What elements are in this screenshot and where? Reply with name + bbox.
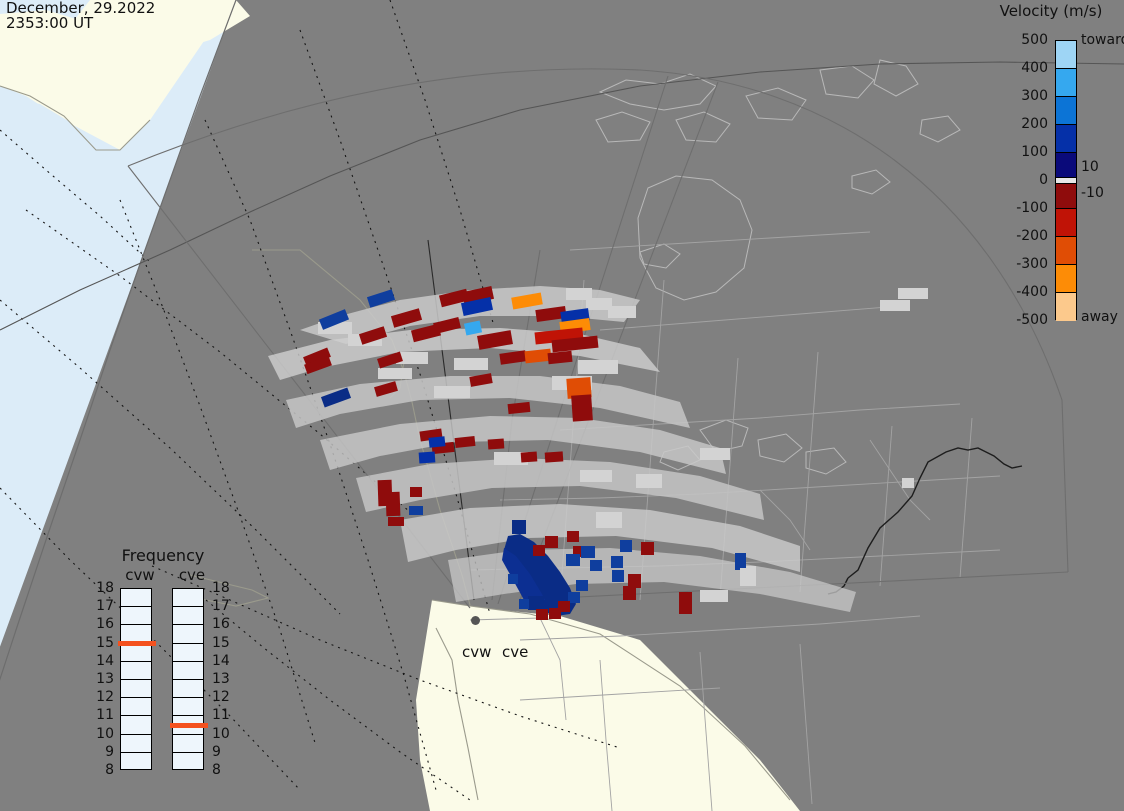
velocity-cell bbox=[623, 586, 636, 600]
radar-site-marker bbox=[471, 616, 480, 625]
frequency-scale-segment bbox=[173, 607, 203, 625]
velocity-cell bbox=[377, 352, 403, 369]
timestamp: December, 29.2022 2353:00 UT bbox=[6, 1, 155, 31]
velocity-cell bbox=[374, 381, 398, 397]
frequency-tick-label: 8 bbox=[212, 762, 236, 778]
frequency-tick-label: 12 bbox=[90, 689, 114, 705]
frequency-legend-title: Frequency bbox=[78, 546, 248, 565]
frequency-tick-label: 16 bbox=[212, 616, 236, 632]
velocity-cell bbox=[735, 553, 746, 570]
frequency-legend: Frequency cvw18171615141312111098cve1817… bbox=[78, 546, 248, 786]
velocity-cell bbox=[521, 451, 538, 462]
velocity-cell bbox=[571, 394, 593, 421]
colorbar-swatch bbox=[1056, 293, 1076, 321]
colorbar-swatch bbox=[1056, 184, 1076, 209]
toward-label: toward bbox=[1081, 32, 1124, 48]
timestamp-time: 2353:00 UT bbox=[6, 16, 155, 31]
frequency-scale-segment bbox=[121, 662, 151, 680]
velocity-cell bbox=[611, 556, 623, 568]
frequency-tick-label: 10 bbox=[90, 726, 114, 742]
frequency-marker-cve bbox=[170, 723, 208, 728]
velocity-cell bbox=[508, 574, 518, 584]
colorbar-tick-label: 200 bbox=[990, 116, 1048, 132]
frequency-scale-segment bbox=[173, 698, 203, 716]
velocity-cell bbox=[488, 438, 505, 449]
frequency-scale-segment bbox=[121, 607, 151, 625]
velocity-cell bbox=[464, 320, 482, 335]
velocity-cell bbox=[566, 554, 580, 566]
colorbar-tick-label: -300 bbox=[990, 256, 1048, 272]
frequency-tick-label: 16 bbox=[90, 616, 114, 632]
frequency-tick-label: 15 bbox=[90, 635, 114, 651]
velocity-cell bbox=[536, 609, 548, 620]
velocity-cell bbox=[620, 540, 632, 552]
velocity-cell bbox=[388, 517, 404, 526]
velocity-cell bbox=[545, 451, 564, 462]
velocity-cell bbox=[508, 402, 531, 414]
colorbar-tick-label: 100 bbox=[990, 144, 1048, 160]
velocity-cell bbox=[511, 292, 543, 309]
frequency-scale-box bbox=[172, 588, 204, 770]
colorbar-swatch bbox=[1056, 125, 1076, 153]
frequency-scale-segment bbox=[121, 753, 151, 771]
colorbar-tick-label: 300 bbox=[990, 88, 1048, 104]
frequency-scale-segment bbox=[173, 680, 203, 698]
frequency-scale-segment bbox=[173, 589, 203, 607]
frequency-tick-label: 8 bbox=[90, 762, 114, 778]
frequency-tick-label: 13 bbox=[212, 671, 236, 687]
velocity-cell bbox=[321, 388, 351, 408]
frequency-tick-label: 11 bbox=[90, 707, 114, 723]
colorbar-tick-label: -100 bbox=[990, 200, 1048, 216]
frequency-tick-label: 17 bbox=[212, 598, 236, 614]
velocity-cell bbox=[740, 568, 751, 582]
frequency-scale-segment bbox=[173, 753, 203, 771]
velocity-cell bbox=[533, 545, 545, 556]
velocity-cell bbox=[391, 308, 422, 328]
radar-site-label-cve: cve bbox=[502, 643, 528, 661]
near-zero-negative-label: -10 bbox=[1081, 185, 1104, 201]
frequency-tick-label: 13 bbox=[90, 671, 114, 687]
velocity-cell bbox=[628, 574, 641, 588]
velocity-cell bbox=[419, 451, 436, 463]
colorbar-swatch bbox=[1056, 237, 1076, 265]
velocity-cell bbox=[499, 350, 526, 365]
frequency-scale-segment bbox=[173, 735, 203, 753]
colorbar-tick-label: -200 bbox=[990, 228, 1048, 244]
velocity-cell bbox=[576, 580, 588, 591]
near-zero-positive-label: 10 bbox=[1081, 159, 1099, 175]
frequency-scale-segment bbox=[173, 662, 203, 680]
colorbar-swatch bbox=[1056, 97, 1076, 125]
colorbar-swatch bbox=[1056, 209, 1076, 237]
colorbar-tick-label: -400 bbox=[990, 284, 1048, 300]
frequency-tick-label: 17 bbox=[90, 598, 114, 614]
colorbar-tick-label: 400 bbox=[990, 60, 1048, 76]
frequency-scale-segment bbox=[121, 644, 151, 662]
frequency-column-name: cvw bbox=[120, 566, 160, 584]
frequency-scale-segment bbox=[121, 589, 151, 607]
velocity-cell bbox=[612, 570, 624, 582]
velocity-cell bbox=[679, 592, 692, 614]
colorbar-swatch bbox=[1056, 153, 1076, 178]
frequency-scale-segment bbox=[121, 698, 151, 716]
colorbar-swatch bbox=[1056, 265, 1076, 293]
colorbar-tick-label: 0 bbox=[990, 172, 1048, 188]
velocity-cell bbox=[549, 608, 561, 619]
velocity-cell bbox=[409, 506, 423, 515]
velocity-cell bbox=[641, 542, 654, 555]
velocity-cell bbox=[547, 351, 572, 364]
frequency-tick-label: 15 bbox=[212, 635, 236, 651]
frequency-tick-label: 9 bbox=[212, 744, 236, 760]
velocity-cell bbox=[477, 330, 513, 350]
radar-map-screenshot: December, 29.2022 2353:00 UT Velocity (m… bbox=[0, 0, 1124, 811]
velocity-cell bbox=[524, 349, 551, 364]
colorbar-swatch bbox=[1056, 69, 1076, 97]
velocity-cell bbox=[410, 487, 422, 497]
frequency-scale-box bbox=[120, 588, 152, 770]
frequency-tick-label: 10 bbox=[212, 726, 236, 742]
velocity-cell bbox=[433, 317, 461, 334]
frequency-tick-label: 18 bbox=[212, 580, 236, 596]
velocity-cell bbox=[567, 531, 579, 542]
away-label: away bbox=[1081, 309, 1118, 325]
velocity-legend: Velocity (m/s) 5004003002001000-100-200-… bbox=[978, 0, 1124, 340]
radar-site-label-cvw: cvw bbox=[462, 643, 491, 661]
velocity-cell bbox=[429, 436, 446, 448]
frequency-tick-label: 14 bbox=[90, 653, 114, 669]
frequency-scale-segment bbox=[121, 735, 151, 753]
colorbar-tick-label: 500 bbox=[990, 32, 1048, 48]
frequency-scale-segment bbox=[173, 625, 203, 643]
velocity-cell bbox=[469, 373, 492, 387]
velocity-legend-title: Velocity (m/s) bbox=[978, 2, 1124, 20]
frequency-marker-cvw bbox=[118, 641, 156, 646]
frequency-tick-label: 12 bbox=[212, 689, 236, 705]
velocity-cell bbox=[359, 326, 387, 344]
colorbar-tick-label: -500 bbox=[990, 312, 1048, 328]
velocity-cell bbox=[367, 289, 395, 307]
frequency-scale-segment bbox=[121, 716, 151, 734]
velocity-cell bbox=[386, 492, 401, 516]
velocity-cell bbox=[455, 436, 476, 448]
velocity-cell bbox=[319, 309, 349, 330]
frequency-tick-label: 14 bbox=[212, 653, 236, 669]
frequency-scale-segment bbox=[173, 644, 203, 662]
frequency-tick-label: 9 bbox=[90, 744, 114, 760]
velocity-cell bbox=[545, 536, 558, 548]
frequency-column-name: cve bbox=[172, 566, 212, 584]
velocity-cell bbox=[581, 546, 595, 558]
frequency-tick-label: 18 bbox=[90, 580, 114, 596]
velocity-cell bbox=[902, 478, 914, 488]
velocity-cell bbox=[519, 599, 529, 609]
frequency-scale-segment bbox=[121, 680, 151, 698]
frequency-tick-label: 11 bbox=[212, 707, 236, 723]
velocity-colorbar bbox=[1055, 40, 1077, 320]
velocity-cell bbox=[590, 560, 602, 571]
colorbar-swatch bbox=[1056, 41, 1076, 69]
